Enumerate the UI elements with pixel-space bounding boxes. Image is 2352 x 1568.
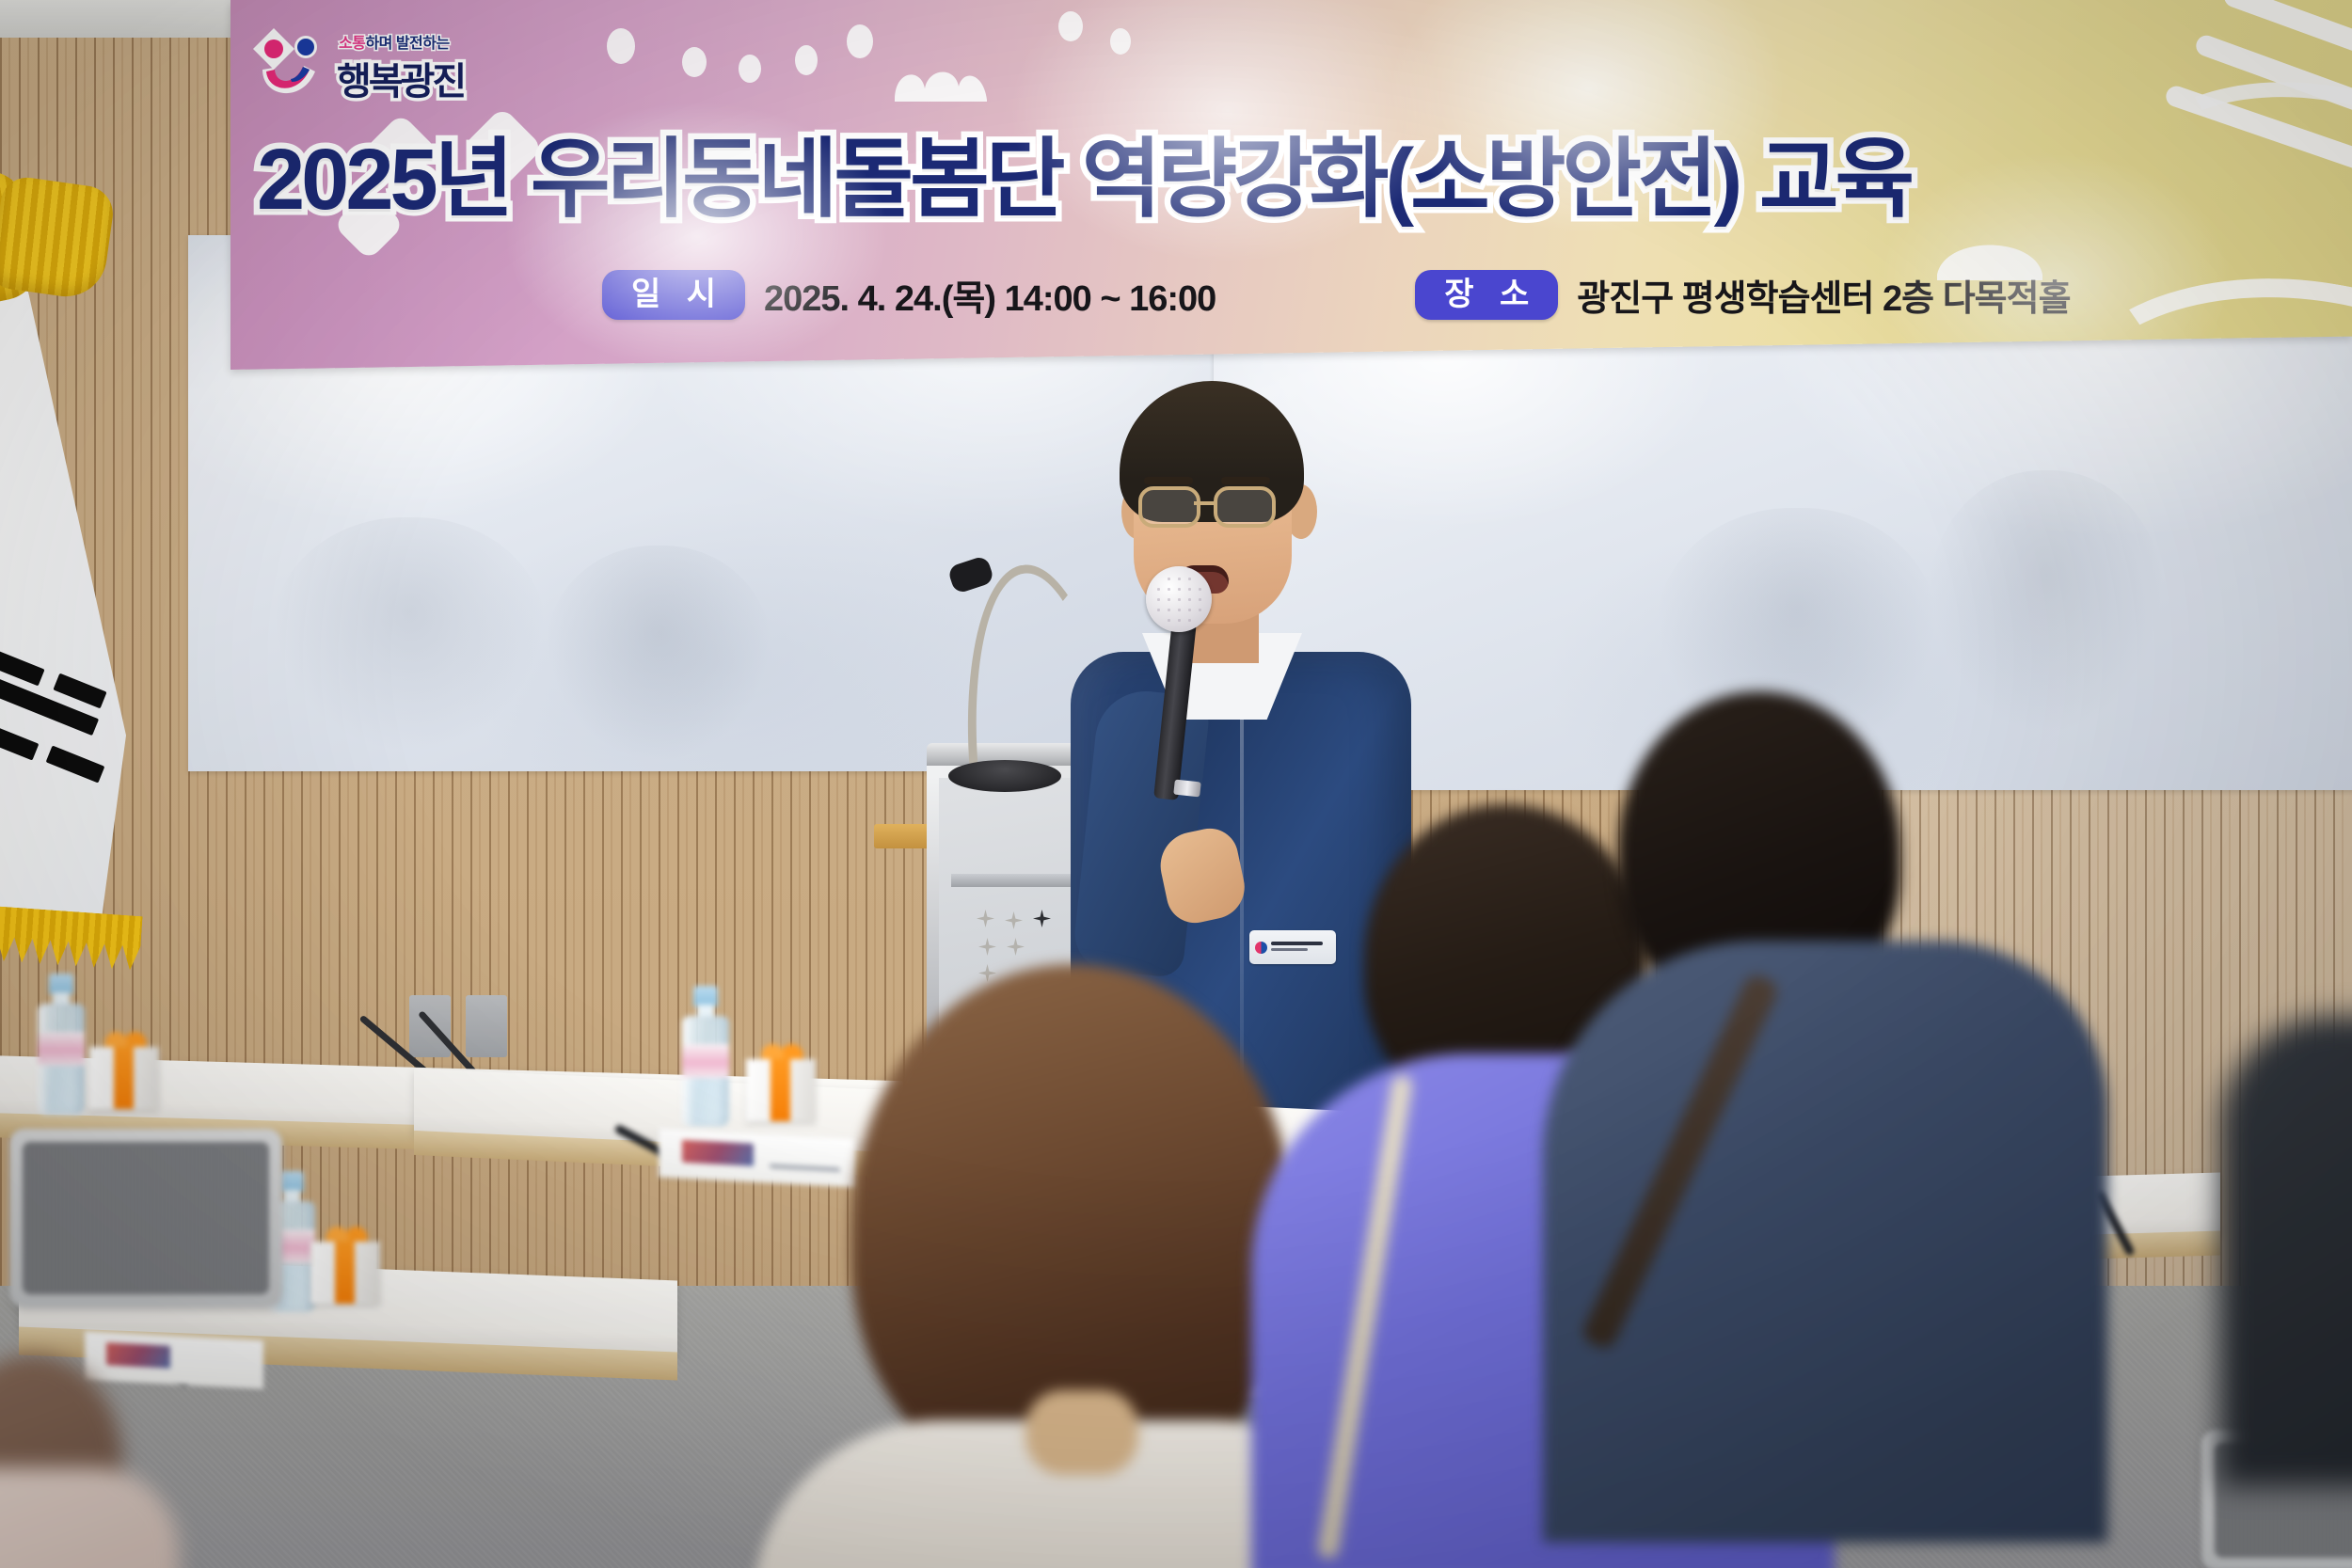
board-reflection-b — [546, 546, 771, 762]
glasses-lens-right — [1214, 486, 1276, 528]
flag-tassel-right — [0, 174, 117, 302]
logo-tagline: 소통하며 발전하는 — [339, 30, 450, 53]
korean-flag — [0, 127, 216, 983]
banner-info-place: 장 소 광진구 평생학습센터 2층 다목적홀 — [1415, 269, 2070, 321]
gwangjin-logo: 소통하며 발전하는 행복광진 — [249, 17, 522, 116]
handout-1[interactable] — [659, 1128, 856, 1187]
flag-cloth — [0, 200, 126, 943]
gift-box-3[interactable] — [310, 1225, 380, 1304]
presenter-jacket-zip — [1240, 720, 1244, 1096]
gift-box-1[interactable] — [89, 1030, 159, 1109]
handheld-mic-head — [1146, 566, 1212, 632]
presenter-brow-right — [1221, 477, 1270, 484]
banner-dot-3 — [739, 55, 761, 83]
logo-name: 행복광진 — [337, 51, 464, 105]
event-banner: 소통하며 발전하는 행복광진 2025년 우리동네돌봄단 역량강화(소방안전) … — [230, 0, 2352, 370]
banner-wave-shape — [889, 56, 993, 102]
stage-trim-left — [874, 824, 934, 848]
water-bottle-2[interactable] — [682, 986, 729, 1127]
glasses-bridge — [1194, 501, 1215, 505]
gift-box-2[interactable] — [746, 1042, 816, 1121]
trigram-bar-b5 — [46, 745, 105, 783]
banner-info-date: 일 시 2025. 4. 24.(목) 14:00 ~ 16:00 — [602, 269, 1216, 321]
banner-dot-5 — [847, 24, 873, 58]
presenter-name-badge — [1249, 930, 1336, 964]
banner-dot-2 — [682, 47, 707, 77]
place-pill-label: 장 소 — [1415, 270, 1558, 321]
gwangjin-smile-logo-icon — [249, 23, 340, 113]
glasses-lens-left — [1138, 486, 1200, 528]
handout-2[interactable] — [85, 1331, 263, 1389]
badge-logo-icon — [1255, 942, 1267, 954]
banner-dot-6 — [1058, 11, 1083, 41]
place-value: 광진구 평생학습센터 2층 다목적홀 — [1577, 269, 2070, 321]
banner-headline: 2025년 우리동네돌봄단 역량강화(소방안전) 교육 — [230, 109, 2352, 234]
board-reflection-d — [1929, 470, 2164, 734]
chair-1[interactable] — [9, 1129, 282, 1307]
date-pill-label: 일 시 — [602, 270, 745, 321]
handheld-mic-connector — [1173, 780, 1201, 798]
banner-dot-4 — [795, 45, 818, 75]
photo-scene: 소통하며 발전하는 행복광진 2025년 우리동네돌봄단 역량강화(소방안전) … — [0, 0, 2352, 1568]
banner-dot-7 — [1110, 28, 1131, 55]
banner-dot-1 — [607, 28, 635, 64]
trigram-bar-b1 — [0, 651, 45, 687]
board-reflection-a — [273, 517, 546, 752]
presenter-brow-left — [1144, 477, 1193, 484]
banner-info-row: 일 시 2025. 4. 24.(목) 14:00 ~ 16:00 장 소 광진… — [602, 269, 2071, 321]
wall-plate-left-2 — [466, 995, 507, 1057]
date-value: 2025. 4. 24.(목) 14:00 ~ 16:00 — [764, 269, 1216, 321]
water-bottle-1[interactable] — [38, 974, 85, 1115]
badge-text-lines — [1271, 942, 1336, 954]
trigram-bar-b4 — [0, 722, 39, 760]
